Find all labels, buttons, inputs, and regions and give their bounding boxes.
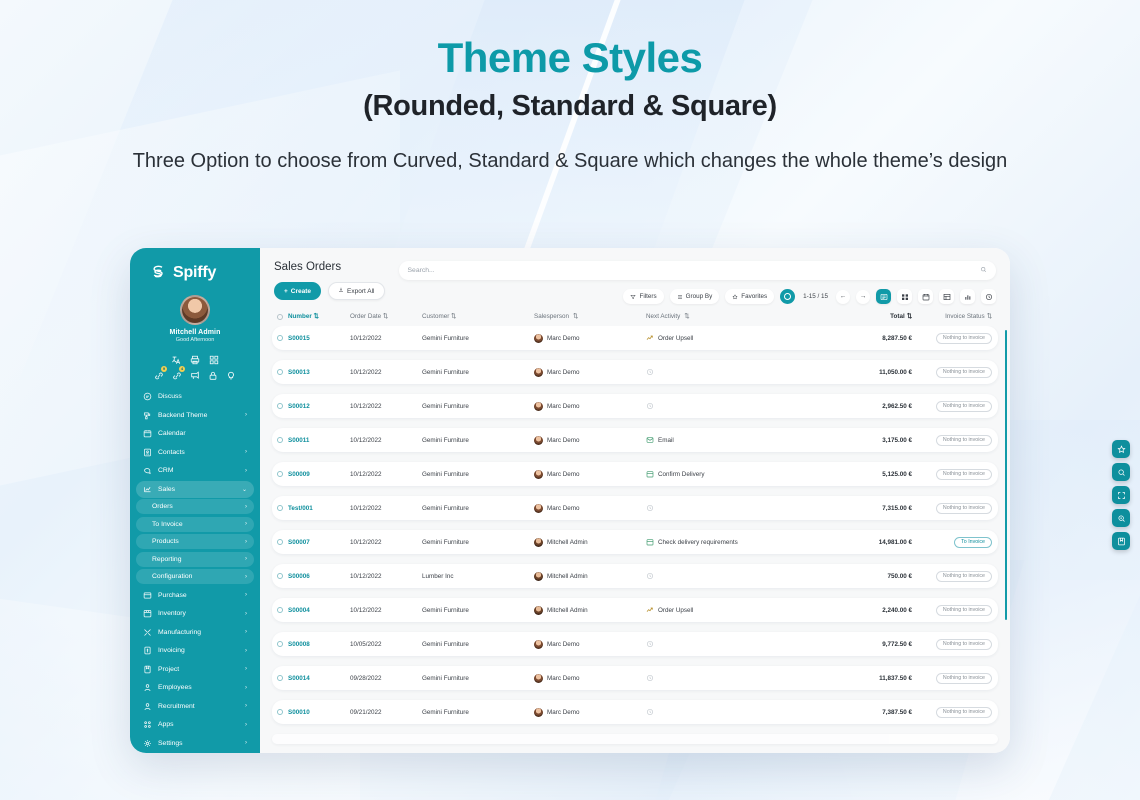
cell-next-activity (646, 708, 840, 716)
chevron-right-icon: › (245, 521, 247, 527)
translate-icon[interactable] (171, 352, 181, 362)
cell-invoice-status: Nothing to invoice (912, 333, 998, 344)
cell-invoice-status: Nothing to invoice (912, 605, 998, 616)
cell-total: 11,837.50 € (840, 675, 912, 682)
cell-customer: Gemini Furniture (422, 709, 534, 716)
plus-icon: + (284, 288, 288, 295)
column-header-order-date[interactable]: Order Date ⇅ (350, 313, 422, 320)
clock-icon (646, 572, 654, 580)
sort-icon[interactable]: ⇅ (383, 313, 388, 320)
cell-order-date: 10/12/2022 (350, 403, 422, 410)
search-icon[interactable] (1112, 463, 1130, 481)
column-header-customer[interactable]: Customer ⇅ (422, 313, 534, 320)
pagination-label: 1-15 / 15 (801, 293, 830, 300)
cell-order-date: 09/28/2022 (350, 675, 422, 682)
vertical-scrollbar[interactable] (1005, 330, 1007, 620)
calendar-icon (646, 470, 654, 478)
cell-total: 7,387.50 € (840, 709, 912, 716)
cell-order-date: 10/12/2022 (350, 369, 422, 376)
hero-section: Theme Styles (Rounded, Standard & Square… (0, 0, 1140, 175)
notification-badge: 9 (161, 366, 167, 372)
sidebar-item-label: Products (152, 538, 239, 545)
zoom-search-icon[interactable] (1112, 509, 1130, 527)
sidebar-item-label: Orders (152, 503, 239, 510)
sidebar-item-label: Purchase (158, 592, 239, 599)
column-label: Number (288, 313, 312, 320)
tools-icon (143, 628, 152, 637)
table-row[interactable]: S0001310/12/2022Gemini FurnitureMarc Dem… (272, 360, 998, 384)
cell-customer: Gemini Furniture (422, 335, 534, 342)
megaphone-icon[interactable] (190, 368, 200, 378)
clock-icon (646, 640, 654, 648)
chevron-right-icon: › (245, 740, 247, 746)
upsell-icon (646, 334, 654, 342)
notification-badge: 4 (179, 366, 185, 372)
cell-invoice-status: To Invoice (912, 537, 998, 548)
cell-salesperson: Marc Demo (534, 402, 646, 411)
cell-customer: Gemini Furniture (422, 539, 534, 546)
status-badge: Nothing to invoice (936, 401, 992, 412)
cell-number[interactable]: S00015 (288, 335, 350, 342)
cell-total: 2,240.00 € (840, 607, 912, 614)
cell-next-activity (646, 504, 840, 512)
cell-order-date: 10/12/2022 (350, 335, 422, 342)
sidebar-item-label: Backend Theme (158, 412, 239, 419)
avatar (534, 606, 543, 615)
cell-invoice-status: Nothing to invoice (912, 639, 998, 650)
sidebar-item-label: Sales (158, 486, 236, 493)
avatar (534, 640, 543, 649)
cell-customer: Gemini Furniture (422, 607, 534, 614)
cell-order-date: 10/12/2022 (350, 607, 422, 614)
cell-invoice-status: Nothing to invoice (912, 435, 998, 446)
invoice-icon (143, 646, 152, 655)
sidebar-item-label: Employees (158, 684, 239, 691)
sidebar-item-label: Configuration (152, 573, 239, 580)
sidebar-item-employees[interactable]: Employees› (136, 679, 254, 696)
cell-next-activity: Check delivery requirements (646, 538, 840, 546)
download-icon (338, 287, 344, 295)
search-placeholder: Search... (408, 267, 981, 274)
cell-total: 8,287.50 € (840, 335, 912, 342)
cell-salesperson: Marc Demo (534, 504, 646, 513)
cell-next-activity (646, 402, 840, 410)
cell-order-date: 10/12/2022 (350, 573, 422, 580)
cell-number[interactable]: S00011 (288, 437, 350, 444)
cell-next-activity: Order Upsell (646, 606, 840, 614)
avatar (534, 572, 543, 581)
bulb-icon[interactable] (226, 368, 236, 378)
sidebar-item-label: To Invoice (152, 521, 239, 528)
sort-icon[interactable]: ⇅ (451, 313, 456, 320)
sidebar-item-apps[interactable]: Apps› (136, 716, 254, 733)
sidebar-item-label: Recruitment (158, 703, 239, 710)
export-all-button[interactable]: Export All (328, 282, 384, 300)
graph-view-icon[interactable] (960, 289, 975, 304)
avatar (534, 402, 543, 411)
status-badge: Nothing to invoice (936, 503, 992, 514)
cell-number[interactable]: S00010 (288, 709, 350, 716)
salesperson-label: Marc Demo (547, 675, 580, 682)
table-row[interactable]: Test/00110/12/2022Gemini FurnitureMarc D… (272, 496, 998, 520)
sort-icon[interactable]: ⇅ (573, 313, 578, 320)
cell-order-date: 10/12/2022 (350, 539, 422, 546)
purchase-icon (143, 591, 152, 600)
chevron-right-icon: › (245, 666, 247, 672)
kanban-view-icon[interactable] (897, 289, 912, 304)
groupby-button[interactable]: Group By (670, 289, 720, 304)
chevron-right-icon: › (245, 629, 247, 635)
toolbar: Sales Orders + Create Export All (260, 248, 1010, 304)
clock-icon (646, 708, 654, 716)
clock-icon (646, 368, 654, 376)
avatar (534, 674, 543, 683)
column-label: Salesperson (534, 313, 569, 320)
cell-number[interactable]: S00006 (288, 573, 350, 580)
cell-next-activity: Confirm Delivery (646, 470, 840, 478)
link-icon[interactable]: 9 (154, 368, 164, 378)
sidebar-item-crm[interactable]: CRM› (136, 462, 254, 479)
sidebar-item-sales[interactable]: Sales⌄ (136, 481, 254, 498)
sidebar-item-label: Invoicing (158, 647, 239, 654)
row-checkbox[interactable] (272, 675, 288, 681)
sidebar-item-invoicing[interactable]: Invoicing› (136, 642, 254, 659)
salesperson-label: Mitchell Admin (547, 539, 588, 546)
cell-number[interactable]: S00014 (288, 675, 350, 682)
cell-customer: Gemini Furniture (422, 675, 534, 682)
cell-salesperson: Marc Demo (534, 368, 646, 377)
sidebar-item-label: CRM (158, 467, 239, 474)
table-header: Number ⇅Order Date ⇅Customer ⇅Salesperso… (260, 304, 1010, 326)
cell-invoice-status: Nothing to invoice (912, 469, 998, 480)
sidebar-item-label: Apps (158, 721, 239, 728)
sidebar-item-label: Project (158, 666, 239, 673)
brand-name: Spiffy (173, 264, 216, 282)
create-button[interactable]: + Create (274, 282, 321, 300)
gear-icon (143, 739, 152, 748)
cell-salesperson: Marc Demo (534, 640, 646, 649)
sidebar-item-discuss[interactable]: Discuss (136, 388, 254, 405)
table-row[interactable]: S0001110/12/2022Gemini FurnitureMarc Dem… (272, 428, 998, 452)
cell-salesperson: Marc Demo (534, 674, 646, 683)
page-description: Three Option to choose from Curved, Stan… (0, 147, 1140, 175)
avatar (534, 708, 543, 717)
sidebar-item-products[interactable]: Products› (136, 534, 254, 549)
row-checkbox[interactable] (272, 369, 288, 375)
user-greeting: Good Afternoon (130, 337, 260, 343)
cell-next-activity: Email (646, 436, 840, 444)
sidebar: Spiffy Mitchell Admin Good Afternoon 9 (130, 248, 260, 753)
page-title: Theme Styles (0, 36, 1140, 80)
table-body: S0001510/12/2022Gemini FurnitureMarc Dem… (260, 326, 1010, 753)
cell-customer: Gemini Furniture (422, 471, 534, 478)
chevron-right-icon: › (245, 574, 247, 580)
sidebar-item-calendar[interactable]: Calendar (136, 425, 254, 442)
activity-label: Check delivery requirements (658, 539, 738, 546)
row-checkbox[interactable] (272, 471, 288, 477)
column-label: Total (890, 313, 905, 320)
page-subtitle: (Rounded, Standard & Square) (0, 90, 1140, 123)
sidebar-item-label: Calendar (158, 430, 247, 437)
cell-number[interactable]: S00004 (288, 607, 350, 614)
cell-order-date: 10/12/2022 (350, 437, 422, 444)
chevron-down-icon: ⌄ (242, 486, 247, 493)
floating-action-buttons (1112, 440, 1130, 550)
cell-next-activity (646, 674, 840, 682)
calendar-view-icon[interactable] (918, 289, 933, 304)
chevron-right-icon: › (245, 703, 247, 709)
upsell-icon (646, 606, 654, 614)
activity-label: Email (658, 437, 674, 444)
fullscreen-icon[interactable] (1112, 486, 1130, 504)
sidebar-item-purchase[interactable]: Purchase› (136, 587, 254, 604)
favorites-button[interactable]: Favorites (725, 289, 774, 304)
main-content: Sales Orders + Create Export All (260, 248, 1010, 753)
row-checkbox[interactable] (272, 641, 288, 647)
apps-icon (143, 720, 152, 729)
star-icon[interactable] (1112, 440, 1130, 458)
salesperson-label: Marc Demo (547, 403, 580, 410)
next-page-button[interactable]: → (856, 290, 870, 304)
sidebar-item-contacts[interactable]: Contacts› (136, 444, 254, 461)
sort-icon[interactable]: ⇅ (987, 313, 992, 320)
sidebar-item-label: Reporting (152, 556, 239, 563)
status-badge: Nothing to invoice (936, 707, 992, 718)
chevron-right-icon: › (245, 556, 247, 562)
sidebar-item-project[interactable]: Project› (136, 661, 254, 678)
salesperson-label: Mitchell Admin (547, 573, 588, 580)
lock-icon[interactable] (208, 368, 218, 378)
cell-total: 5,125.00 € (840, 471, 912, 478)
cell-invoice-status: Nothing to invoice (912, 707, 998, 718)
cell-salesperson: Mitchell Admin (534, 606, 646, 615)
cell-invoice-status: Nothing to invoice (912, 503, 998, 514)
crm-icon (143, 466, 152, 475)
inventory-icon (143, 609, 152, 618)
list-view-icon[interactable] (876, 289, 891, 304)
clock-icon (646, 504, 654, 512)
chat-icon (143, 392, 152, 401)
cell-salesperson: Marc Demo (534, 334, 646, 343)
column-label: Next Activity (646, 313, 680, 320)
spiffy-logo-icon (148, 262, 169, 283)
chart-icon (143, 485, 152, 494)
row-checkbox[interactable] (272, 437, 288, 443)
column-label: Customer (422, 313, 449, 320)
brush-icon (143, 411, 152, 420)
avatar (534, 436, 543, 445)
row-checkbox[interactable] (272, 573, 288, 579)
sidebar-item-manufacturing[interactable]: Manufacturing› (136, 624, 254, 641)
groupby-label: Group By (686, 293, 713, 300)
cell-number[interactable]: S00008 (288, 641, 350, 648)
cell-invoice-status: Nothing to invoice (912, 367, 998, 378)
status-badge: To Invoice (954, 537, 992, 548)
sidebar-item-settings[interactable]: Settings› (136, 735, 254, 752)
column-label: Invoice Status (945, 313, 985, 320)
cell-total: 750.00 € (840, 573, 912, 580)
cell-salesperson: Marc Demo (534, 708, 646, 717)
refresh-button[interactable] (780, 289, 795, 304)
cell-order-date: 10/12/2022 (350, 471, 422, 478)
select-all-checkbox[interactable] (272, 314, 288, 320)
column-header-salesperson[interactable]: Salesperson ⇅ (534, 313, 646, 320)
avatar (534, 368, 543, 377)
avatar (180, 295, 210, 325)
sidebar-item-reporting[interactable]: Reporting› (136, 552, 254, 567)
cell-customer: Gemini Furniture (422, 641, 534, 648)
table-row[interactable]: S0001009/21/2022Gemini FurnitureMarc Dem… (272, 700, 998, 724)
chevron-right-icon: › (245, 412, 247, 418)
avatar (534, 504, 543, 513)
row-checkbox[interactable] (272, 607, 288, 613)
cell-order-date: 09/21/2022 (350, 709, 422, 716)
status-badge: Nothing to invoice (936, 435, 992, 446)
row-checkbox[interactable] (272, 335, 288, 341)
cell-total: 11,050.00 € (840, 369, 912, 376)
email-icon (646, 436, 654, 444)
activity-label: Order Upsell (658, 335, 693, 342)
row-checkbox[interactable] (272, 403, 288, 409)
content-title: Sales Orders (274, 261, 385, 273)
salesperson-label: Marc Demo (547, 641, 580, 648)
activity-label: Order Upsell (658, 607, 693, 614)
user-profile[interactable]: Mitchell Admin Good Afternoon (130, 291, 260, 345)
cell-customer: Lumber Inc (422, 573, 534, 580)
sidebar-menu: DiscussBackend Theme›CalendarContacts›CR… (130, 386, 260, 753)
cell-invoice-status: Nothing to invoice (912, 401, 998, 412)
salesperson-label: Marc Demo (547, 505, 580, 512)
column-label: Order Date (350, 313, 381, 320)
salesperson-label: Marc Demo (547, 437, 580, 444)
sidebar-item-backend-theme[interactable]: Backend Theme› (136, 407, 254, 424)
calendar-icon (646, 538, 654, 546)
sort-icon[interactable]: ⇅ (314, 313, 319, 320)
salesperson-label: Marc Demo (547, 335, 580, 342)
table-row[interactable]: S0000710/12/2022Gemini FurnitureMitchell… (272, 530, 998, 554)
row-checkbox[interactable] (272, 709, 288, 715)
favorites-label: Favorites (741, 293, 767, 300)
cell-customer: Gemini Furniture (422, 403, 534, 410)
chevron-right-icon: › (245, 685, 247, 691)
brand-logo[interactable]: Spiffy (130, 258, 260, 291)
status-badge: Nothing to invoice (936, 639, 992, 650)
chevron-right-icon: › (245, 592, 247, 598)
chevron-right-icon: › (245, 611, 247, 617)
clock-icon (646, 674, 654, 682)
table-row[interactable]: S0001210/12/2022Gemini FurnitureMarc Dem… (272, 394, 998, 418)
sidebar-item-label: Inventory (158, 610, 239, 617)
quick-actions-row (130, 352, 260, 362)
search-input[interactable]: Search... (399, 261, 997, 280)
filters-label: Filters (639, 293, 656, 300)
table-row[interactable]: S0000610/12/2022Lumber IncMitchell Admin… (272, 564, 998, 588)
cell-number[interactable]: S00009 (288, 471, 350, 478)
clock-icon (646, 402, 654, 410)
cell-next-activity (646, 368, 840, 376)
cell-total: 9,772.50 € (840, 641, 912, 648)
search-icon[interactable] (980, 266, 987, 275)
employee-icon (143, 683, 152, 692)
cell-number[interactable]: Test/001 (288, 505, 350, 512)
avatar (534, 334, 543, 343)
avatar (534, 470, 543, 479)
chevron-right-icon: › (245, 468, 247, 474)
row-checkbox[interactable] (272, 539, 288, 545)
cell-next-activity (646, 640, 840, 648)
cell-next-activity (646, 572, 840, 580)
sidebar-item-inventory[interactable]: Inventory› (136, 605, 254, 622)
sidebar-item-orders[interactable]: Orders› (136, 499, 254, 514)
recruitment-icon (143, 702, 152, 711)
pivot-view-icon[interactable] (939, 289, 954, 304)
sidebar-item-recruitment[interactable]: Recruitment› (136, 698, 254, 715)
column-header-number[interactable]: Number ⇅ (288, 313, 350, 320)
cell-customer: Gemini Furniture (422, 437, 534, 444)
row-checkbox[interactable] (272, 505, 288, 511)
create-label: Create (291, 288, 311, 295)
activity-view-icon[interactable] (981, 289, 996, 304)
sidebar-item-label: Settings (158, 740, 239, 747)
qrcode-icon[interactable] (209, 352, 219, 362)
table-row[interactable]: S0000810/05/2022Gemini FurnitureMarc Dem… (272, 632, 998, 656)
cell-number[interactable]: S00013 (288, 369, 350, 376)
cell-invoice-status: Nothing to invoice (912, 571, 998, 582)
cell-total: 7,315.00 € (840, 505, 912, 512)
contacts-icon (143, 448, 152, 457)
table-row[interactable]: S0000410/12/2022Gemini FurnitureMitchell… (272, 598, 998, 622)
status-badge: Nothing to invoice (936, 367, 992, 378)
cell-number[interactable]: S00012 (288, 403, 350, 410)
sidebar-item-to-invoice[interactable]: To Invoice› (136, 517, 254, 532)
column-header-next-activity[interactable]: Next Activity ⇅ (646, 313, 840, 320)
salesperson-label: Mitchell Admin (547, 607, 588, 614)
chevron-right-icon: › (245, 504, 247, 510)
sidebar-item-label: Contacts (158, 449, 239, 456)
salesperson-label: Marc Demo (547, 369, 580, 376)
table-row[interactable]: S0000910/12/2022Gemini FurnitureMarc Dem… (272, 462, 998, 486)
sidebar-item-configuration[interactable]: Configuration› (136, 569, 254, 584)
status-badge: Nothing to invoice (936, 605, 992, 616)
table-row[interactable]: S0001409/28/2022Gemini FurnitureMarc Dem… (272, 666, 998, 690)
book-icon[interactable] (1112, 532, 1130, 550)
column-header-invoice-status[interactable]: Invoice Status ⇅ (912, 313, 998, 320)
status-badge: Nothing to invoice (936, 571, 992, 582)
cell-number[interactable]: S00007 (288, 539, 350, 546)
cell-customer: Gemini Furniture (422, 369, 534, 376)
sort-icon[interactable]: ⇅ (684, 313, 689, 320)
chevron-right-icon: › (245, 449, 247, 455)
prev-page-button[interactable]: ← (836, 290, 850, 304)
status-icons-row: 9 4 (130, 368, 260, 386)
print-icon[interactable] (190, 352, 200, 362)
table-row[interactable] (272, 734, 998, 744)
table-row[interactable]: S0001510/12/2022Gemini FurnitureMarc Dem… (272, 326, 998, 350)
cell-total: 2,962.50 € (840, 403, 912, 410)
chevron-right-icon: › (245, 539, 247, 545)
column-header-total[interactable]: Total ⇅ (840, 313, 912, 320)
sidebar-item-label: Manufacturing (158, 629, 239, 636)
cell-order-date: 10/05/2022 (350, 641, 422, 648)
status-badge: Nothing to invoice (936, 333, 992, 344)
cell-order-date: 10/12/2022 (350, 505, 422, 512)
sidebar-item-label: Discuss (158, 393, 247, 400)
project-icon (143, 665, 152, 674)
activity-label: Confirm Delivery (658, 471, 705, 478)
cell-salesperson: Marc Demo (534, 436, 646, 445)
link-badge-icon[interactable]: 4 (172, 368, 182, 378)
filters-button[interactable]: Filters (623, 289, 663, 304)
